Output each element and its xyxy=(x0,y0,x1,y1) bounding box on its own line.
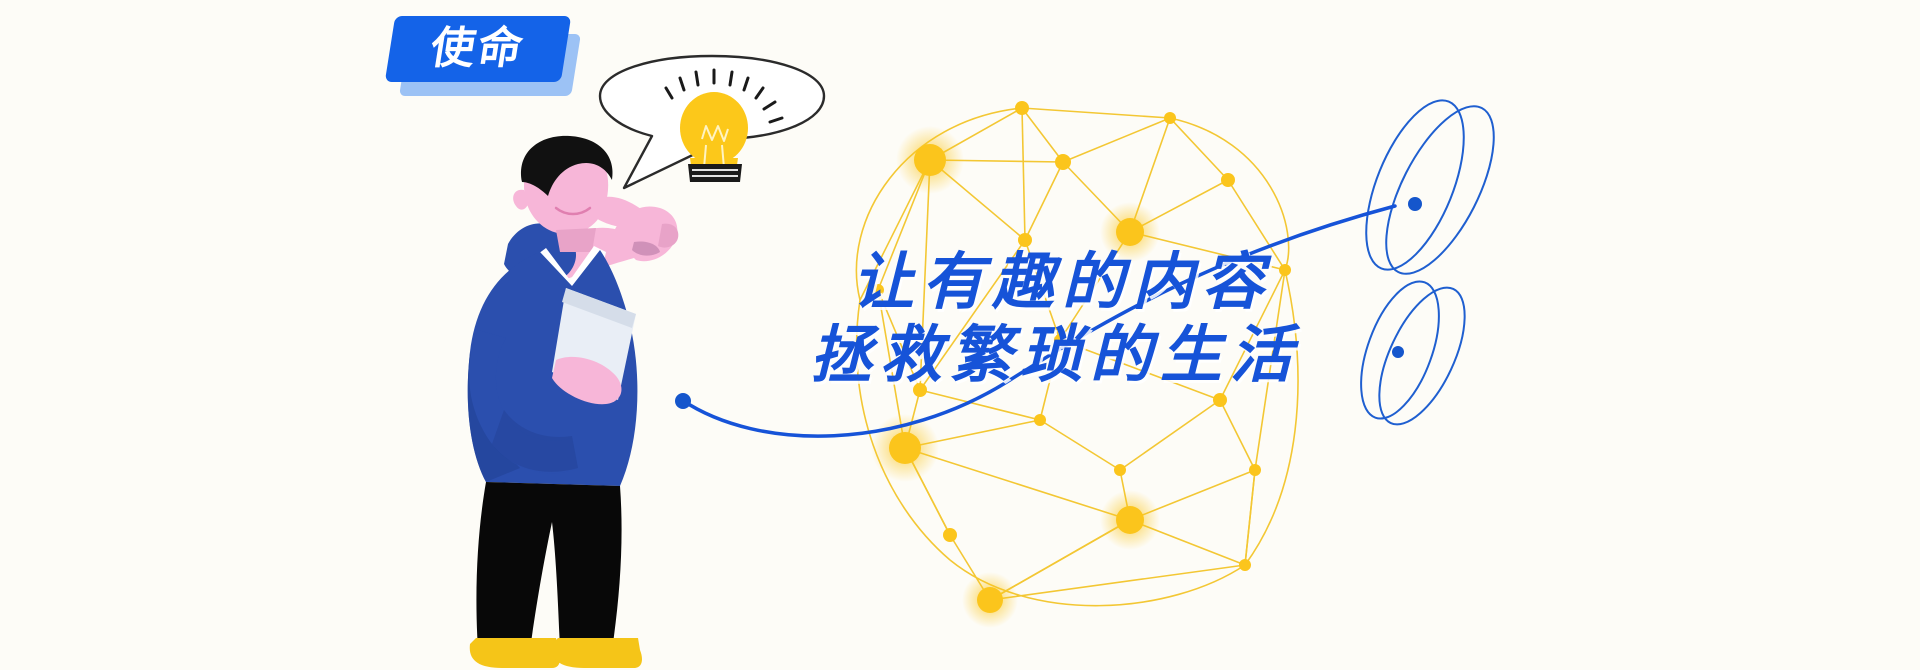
badge-plate: 使命 xyxy=(385,16,571,82)
mission-banner: 使命 让有趣的内容 拯救繁琐的生活 xyxy=(0,0,1920,670)
mission-badge[interactable]: 使命 xyxy=(390,16,576,98)
headline-block: 让有趣的内容 拯救繁琐的生活 xyxy=(810,245,1530,391)
headline-line-1: 让有趣的内容 xyxy=(810,245,1530,318)
bulb-glass xyxy=(680,92,748,164)
headline-line-2: 拯救繁琐的生活 xyxy=(810,318,1530,391)
badge-label: 使命 xyxy=(428,27,529,71)
bulb-base xyxy=(688,164,742,182)
